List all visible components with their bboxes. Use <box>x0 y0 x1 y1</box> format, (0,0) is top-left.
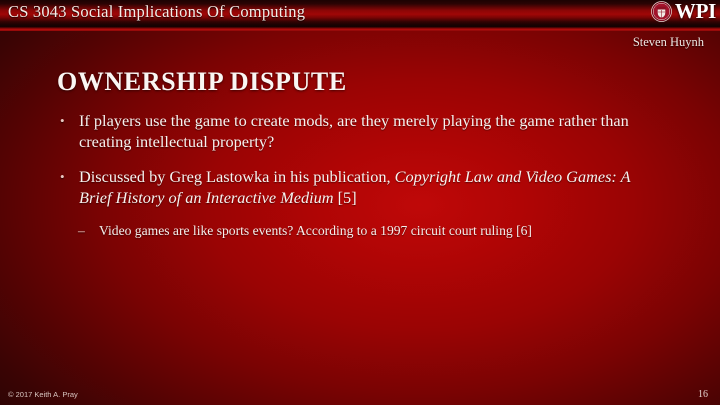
presentation-slide: CS 3043 Social Implications Of Computing… <box>0 0 720 405</box>
wpi-brand: WPI <box>651 1 716 22</box>
sub-bullet-marker-icon: – <box>78 222 85 240</box>
copyright-notice: © 2017 Keith A. Pray <box>8 390 78 399</box>
bullet-item: • Discussed by Greg Lastowka in his publ… <box>57 166 657 208</box>
slide-header-bar: CS 3043 Social Implications Of Computing… <box>0 0 720 31</box>
bullet-marker-icon: • <box>60 166 65 187</box>
slide-body: • If players use the game to create mods… <box>57 110 657 240</box>
wpi-wordmark: WPI <box>675 1 716 22</box>
slide-title: OWNERSHIP DISPUTE <box>57 67 347 97</box>
page-number: 16 <box>698 389 708 400</box>
sub-bullet-text: Video games are like sports events? Acco… <box>99 223 532 238</box>
bullet-marker-icon: • <box>60 110 65 131</box>
bullet-item: • If players use the game to create mods… <box>57 110 657 152</box>
sub-bullet-item: – Video games are like sports events? Ac… <box>57 222 657 240</box>
wpi-seal-icon <box>651 1 672 22</box>
author-name: Steven Huynh <box>633 35 704 50</box>
bullet-text: Discussed by Greg Lastowka in his public… <box>79 167 630 207</box>
bullet-text: If players use the game to create mods, … <box>79 111 629 151</box>
course-title: CS 3043 Social Implications Of Computing <box>8 2 305 22</box>
